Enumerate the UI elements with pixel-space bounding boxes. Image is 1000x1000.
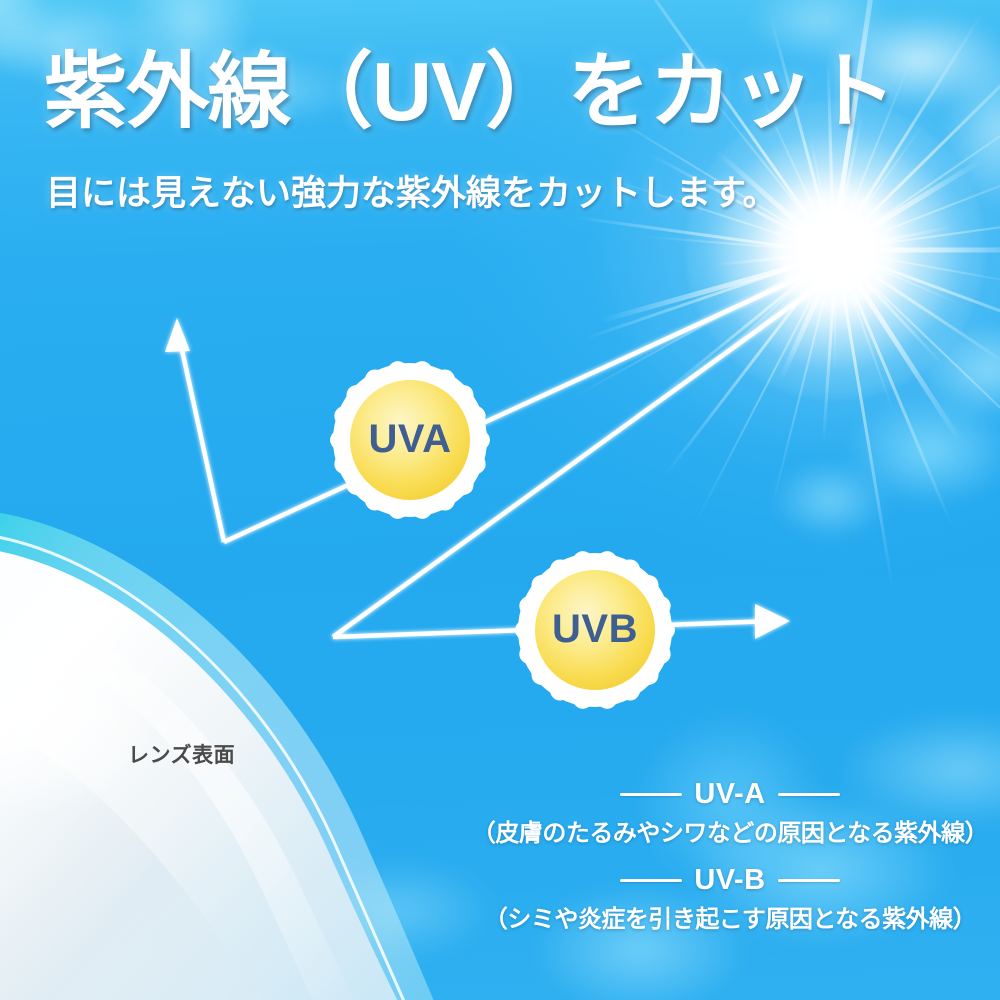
legend-rule-right-icon	[778, 879, 840, 882]
legend-uva-heading-text: UV-A	[694, 778, 765, 811]
legend-rule-left-icon	[620, 879, 682, 882]
legend-item-uvb: UV-B （シミや炎症を引き起こす原因となる紫外線）	[470, 864, 990, 934]
legend-uvb-heading: UV-B	[470, 864, 990, 897]
lens-surface-label: レンズ表面	[128, 739, 235, 769]
page-subtitle: 目には見えない強力な紫外線をカットします。	[46, 165, 778, 216]
uva-badge-label: UVA	[325, 355, 495, 525]
legend-uvb-description: （シミや炎症を引き起こす原因となる紫外線）	[470, 899, 990, 934]
uv-legend: UV-A （皮膚のたるみやシワなどの原因となる紫外線） UV-B （シミや炎症を…	[470, 778, 990, 934]
uvb-badge-label: UVB	[510, 545, 680, 715]
legend-item-uva: UV-A （皮膚のたるみやシワなどの原因となる紫外線）	[470, 778, 990, 848]
legend-rule-right-icon	[778, 793, 840, 796]
uva-arrowhead-icon	[165, 318, 190, 352]
uvb-sun-badge-icon: UVB	[510, 545, 680, 715]
legend-uva-description: （皮膚のたるみやシワなどの原因となる紫外線）	[470, 813, 990, 848]
uv-cut-infographic: UVA UVB 紫外線（UV）をカット 目には見えない強力な紫外線をカットします…	[0, 0, 1000, 1000]
legend-uva-heading: UV-A	[470, 778, 990, 811]
page-title: 紫外線（UV）をカット	[44, 48, 895, 135]
uva-sun-badge-icon: UVA	[325, 355, 495, 525]
uvb-arrowhead-icon	[755, 604, 790, 639]
legend-rule-left-icon	[620, 793, 682, 796]
legend-uvb-heading-text: UV-B	[694, 864, 765, 897]
uva-reflected-ray	[179, 336, 224, 542]
